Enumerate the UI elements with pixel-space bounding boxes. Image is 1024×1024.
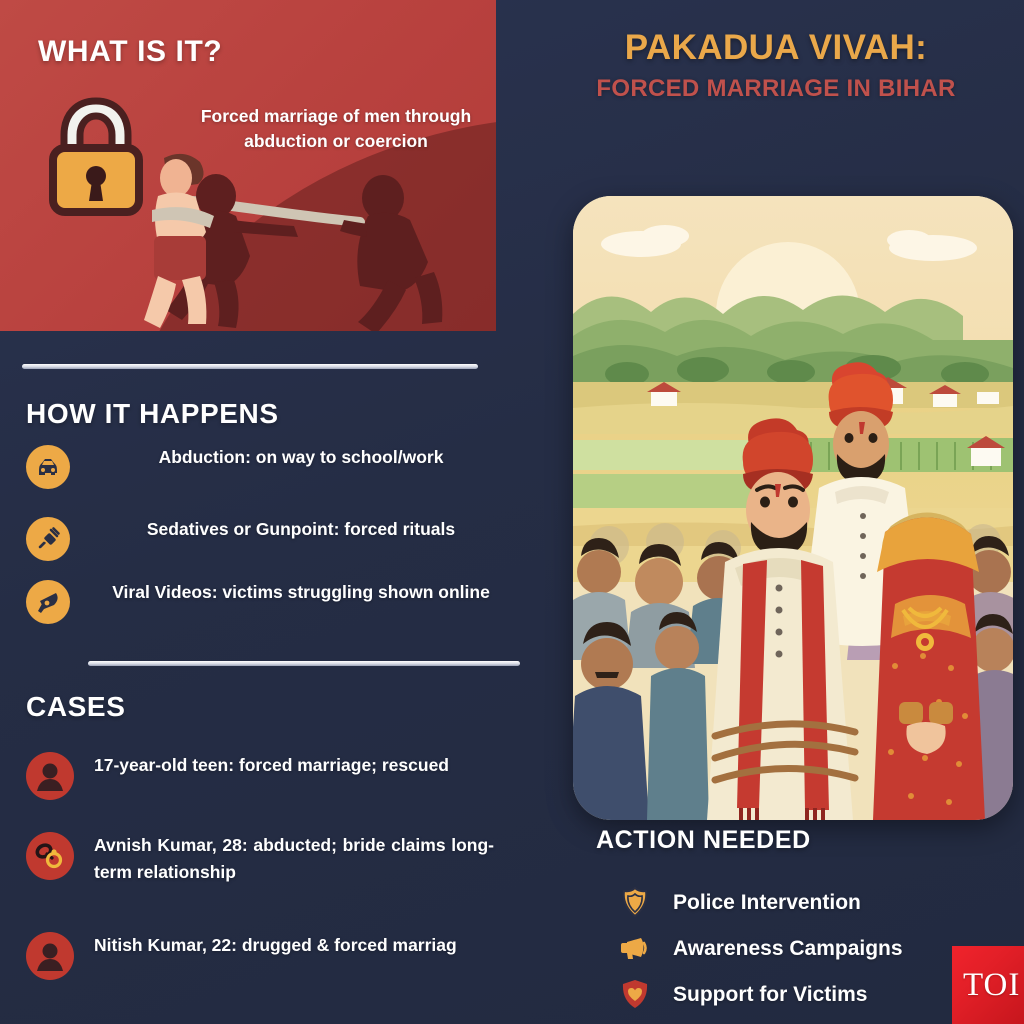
police-badge-icon (618, 885, 652, 919)
wedding-illustration (573, 196, 1013, 820)
case-item: 17-year-old teen: forced marriage; rescu… (26, 752, 558, 800)
how-it-happens-item: Abduction: on way to school/work (26, 445, 526, 489)
action-label: Police Intervention (673, 892, 861, 913)
case-item: Avnish Kumar, 28: abducted; bride claims… (26, 832, 558, 885)
page-subtitle: FORCED MARRIAGE IN BIHAR (528, 75, 1024, 103)
action-label: Support for Victims (673, 984, 867, 1005)
hero-caption: Forced marriage of men through abduction… (186, 104, 486, 155)
infographic-header: PAKADUA VIVAH: FORCED MARRIAGE IN BIHAR (528, 28, 1024, 103)
case-label: Avnish Kumar, 28: abducted; bride claims… (94, 832, 494, 885)
action-label: Awareness Campaigns (673, 938, 903, 959)
shield-heart-icon (618, 977, 652, 1011)
action-item: Police Intervention (618, 885, 861, 919)
case-item: Nitish Kumar, 22: drugged & forced marri… (26, 932, 558, 980)
how-it-happens-item: Sedatives or Gunpoint: forced rituals (26, 517, 526, 561)
section-title-how-it-happens: HOW IT HAPPENS (26, 398, 279, 430)
case-label: Nitish Kumar, 22: drugged & forced marri… (94, 932, 554, 959)
megaphone-icon (618, 931, 652, 965)
case-label: 17-year-old teen: forced marriage; rescu… (94, 752, 549, 779)
section-title-cases: CASES (26, 691, 125, 723)
toi-logo-text: TOI (952, 967, 1020, 1004)
how-it-happens-label: Viral Videos: victims struggling shown o… (86, 580, 516, 605)
megaphone-icon (26, 580, 70, 624)
how-it-happens-label: Sedatives or Gunpoint: forced rituals (86, 517, 516, 542)
action-item: Awareness Campaigns (618, 931, 903, 965)
person-icon (26, 752, 74, 800)
how-it-happens-item: Viral Videos: victims struggling shown o… (26, 580, 526, 624)
syringe-icon (26, 517, 70, 561)
action-item: Support for Victims (618, 977, 867, 1011)
what-is-it-panel: WHAT IS IT? Forced marriage of men throu… (0, 0, 496, 331)
how-it-happens-label: Abduction: on way to school/work (86, 445, 516, 470)
toi-logo[interactable]: TOI (952, 946, 1024, 1024)
infographic-root: WHAT IS IT? Forced marriage of men throu… (0, 0, 1024, 1024)
padlock-icon (44, 93, 148, 219)
divider-middle (88, 661, 520, 666)
divider-top (22, 364, 478, 369)
abduction-illustration (128, 140, 496, 331)
handcuff-ring-icon (26, 832, 74, 880)
car-icon (26, 445, 70, 489)
hero-heading: WHAT IS IT? (38, 35, 222, 69)
section-title-action-needed: ACTION NEEDED (596, 826, 811, 855)
person-icon (26, 932, 74, 980)
page-title: PAKADUA VIVAH: (528, 28, 1024, 67)
